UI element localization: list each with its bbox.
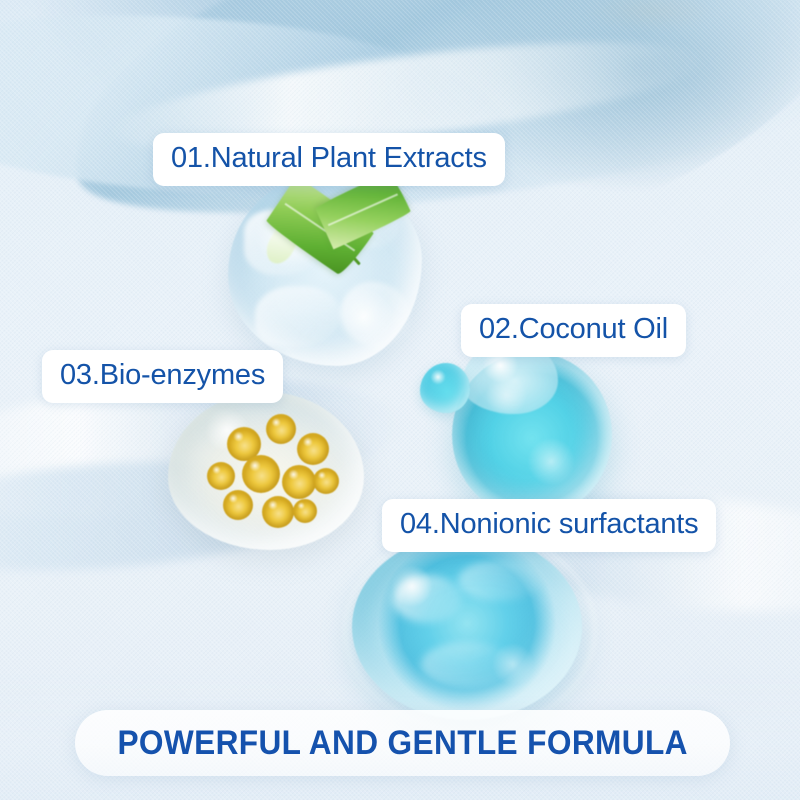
ingredient-label-03: 03.Bio-enzymes	[42, 350, 283, 403]
ingredient-visual-natural-plant-extracts	[228, 176, 422, 366]
enzyme-bead	[242, 455, 280, 493]
enzyme-bead	[282, 465, 316, 499]
enzyme-bead	[266, 414, 296, 444]
gel-swirl	[393, 575, 462, 623]
ingredient-visual-bio-enzymes	[168, 392, 364, 550]
enzyme-bead	[223, 490, 253, 520]
enzyme-bead	[262, 496, 294, 528]
enzyme-bead	[293, 499, 317, 523]
gel-swirl	[458, 560, 541, 601]
leaf-vein	[328, 194, 398, 226]
enzyme-bead	[297, 433, 329, 465]
ingredient-label-02: 02.Coconut Oil	[461, 304, 686, 357]
product-ingredient-poster: 01.Natural Plant Extracts 02.Coconut Oil…	[0, 0, 800, 800]
cyan-droplet	[420, 363, 470, 413]
enzyme-bead	[313, 468, 339, 494]
ingredient-label-01: 01.Natural Plant Extracts	[153, 133, 505, 186]
ingredient-visual-nonionic-surfactants	[352, 534, 582, 720]
headline-text: POWERFUL AND GENTLE FORMULA	[117, 724, 687, 763]
enzyme-bead	[207, 462, 235, 490]
crystal-facet	[341, 282, 411, 347]
headline-banner: POWERFUL AND GENTLE FORMULA	[75, 710, 730, 776]
crystal-facet	[255, 286, 340, 347]
gel-swirl	[421, 642, 513, 687]
ingredient-label-04: 04.Nonionic surfactants	[382, 499, 716, 552]
